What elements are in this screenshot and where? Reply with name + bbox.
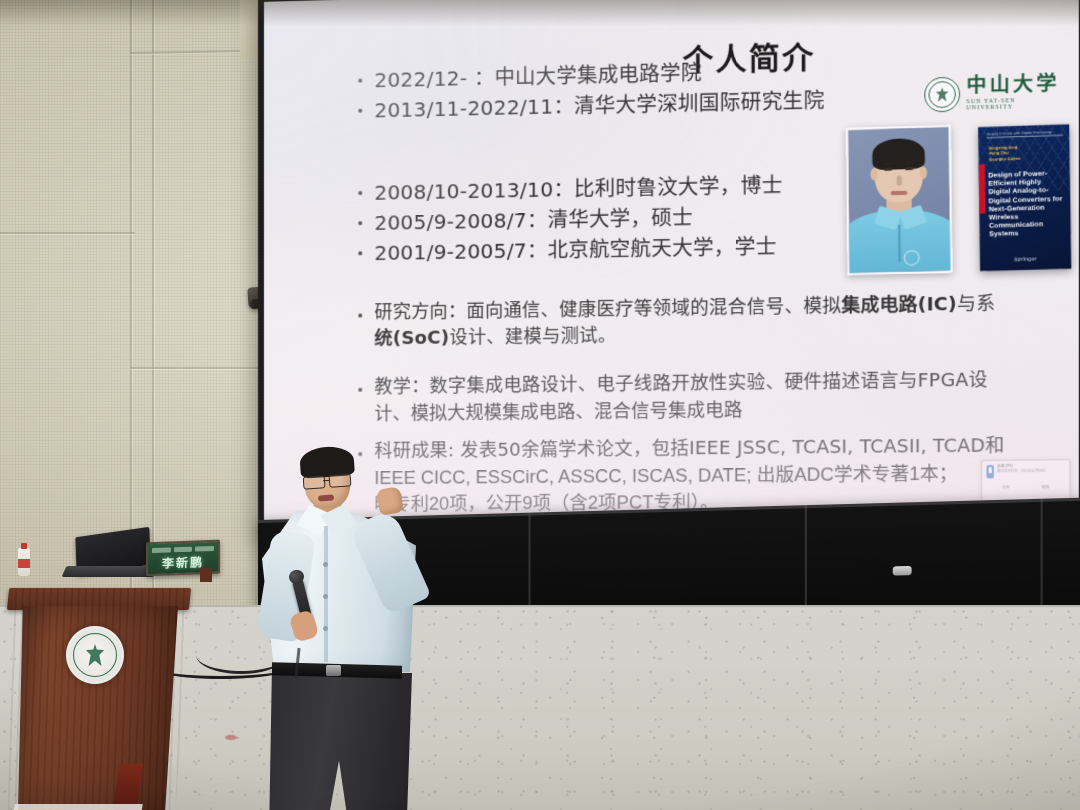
portrait-eye bbox=[884, 168, 892, 171]
popup-text: 设备 (F1) 最后修改时间：2023年12月08日 bbox=[997, 463, 1065, 474]
portrait-eyebrow bbox=[883, 162, 894, 165]
presenter-mouth bbox=[318, 494, 334, 501]
portrait-eye bbox=[905, 167, 913, 170]
book-author: Georges Gielen bbox=[989, 156, 1020, 163]
research-mid: 与系 bbox=[957, 293, 995, 315]
portrait-hair bbox=[872, 138, 925, 170]
bullet-group-employment: 2022/12- ：中山大学集成电路学院 2013/11-2022/11：清华大… bbox=[352, 53, 857, 125]
bullet-item-research: 研究方向：面向通信、健康医疗等领域的混合信号、模拟集成电路(IC)与系统(SoC… bbox=[352, 290, 1034, 352]
popup-cancel-button[interactable]: 取消 bbox=[1041, 485, 1049, 490]
book-cover-image: Analog Circuits and Signal Processing Bi… bbox=[978, 124, 1071, 271]
lecture-hall-photo: 个人简介 中山大学 SUN YAT-SEN UNIVERSITY 2022/12… bbox=[0, 0, 1080, 810]
research-tail: 设计、建模与测试。 bbox=[449, 325, 616, 348]
presenter-person bbox=[258, 452, 448, 810]
portrait-nose bbox=[897, 175, 902, 185]
presenter-belt-buckle bbox=[326, 665, 341, 676]
sysu-logo-cn: 中山大学 bbox=[966, 74, 1061, 96]
portrait-mouth bbox=[891, 191, 908, 195]
research-bold-ic: 集成电路(IC) bbox=[841, 294, 956, 317]
sysu-logo-en: SUN YAT-SEN UNIVERSITY bbox=[966, 98, 1061, 111]
nameplate-stand bbox=[200, 568, 212, 582]
book-publisher: Springer bbox=[980, 255, 1071, 264]
laptop-keyboard-base[interactable] bbox=[62, 566, 159, 577]
presenter-trousers bbox=[266, 673, 412, 810]
sysu-podium-emblem-icon bbox=[66, 626, 124, 684]
sysu-seal-icon bbox=[924, 77, 960, 113]
bullet-group-education: 2008/10-2013/10：比利时鲁汶大学，博士 2005/9-2008/7… bbox=[352, 169, 836, 269]
research-lead: 研究方向：面向通信、健康医疗等领域的混合信号、模拟 bbox=[374, 295, 841, 323]
research-bold-soc: 统(SoC) bbox=[374, 327, 449, 349]
presenter-laptop[interactable] bbox=[62, 532, 154, 584]
water-bottle[interactable] bbox=[18, 548, 30, 576]
bullet-group-teaching: 教学：数字集成电路设计、电子线路开放性实验、硬件描述语言与FPGA设 计、模拟大… bbox=[352, 367, 1038, 427]
podium-wood-grain bbox=[8, 588, 190, 810]
book-title-text: Design of Power-Efficient Highly Digital… bbox=[988, 170, 1063, 240]
popup-open-button[interactable]: 打开 bbox=[1002, 485, 1010, 490]
book-spine-stripe bbox=[979, 165, 986, 214]
book-authors: Bingxing Xing Peng Zhu Georges Gielen bbox=[989, 144, 1021, 162]
portrait-eyebrow bbox=[904, 162, 915, 165]
slide-notification-popup[interactable]: 设备 (F1) 最后修改时间：2023年12月08日 打开 取消 bbox=[981, 459, 1070, 501]
lectern-podium bbox=[8, 588, 190, 810]
panel-small-device bbox=[893, 566, 912, 576]
podium-base bbox=[13, 804, 142, 810]
glasses-icon bbox=[302, 473, 353, 487]
popup-line-2: 最后修改时间：2023年12月08日 bbox=[997, 469, 1065, 475]
popup-buttons: 打开 取消 bbox=[986, 485, 1064, 491]
usb-device-icon bbox=[986, 465, 993, 478]
book-title: Design of Power-Efficient Highly Digital… bbox=[988, 170, 1063, 240]
presenter-portrait-photo bbox=[846, 125, 953, 276]
nameplate-header-bar bbox=[152, 545, 214, 553]
sysu-logo: 中山大学 SUN YAT-SEN UNIVERSITY bbox=[924, 65, 1062, 122]
popup-content-row: 设备 (F1) 最后修改时间：2023年12月08日 bbox=[986, 463, 1064, 478]
sysu-logo-text: 中山大学 SUN YAT-SEN UNIVERSITY bbox=[966, 74, 1061, 111]
presenter-raised-fist bbox=[376, 486, 404, 516]
portrait-ear bbox=[920, 166, 927, 179]
portrait-placket bbox=[898, 225, 900, 262]
bullet-group-research: 研究方向：面向通信、健康医疗等领域的混合信号、模拟集成电路(IC)与系统(SoC… bbox=[352, 290, 1034, 352]
floor-red-mark bbox=[225, 735, 237, 740]
portrait-ear bbox=[870, 168, 877, 181]
